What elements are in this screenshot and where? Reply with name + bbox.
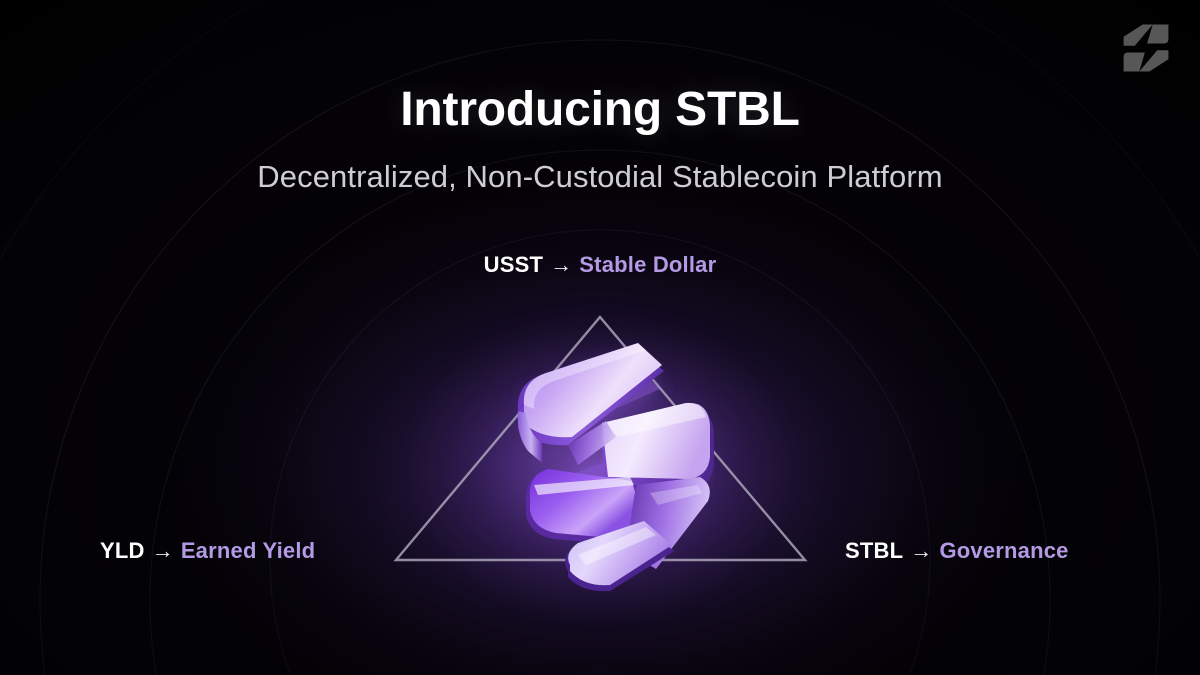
page-subtitle: Decentralized, Non-Custodial Stablecoin … xyxy=(0,159,1200,195)
node-ticker-usst: USST xyxy=(484,252,543,277)
node-description-yld: Earned Yield xyxy=(181,538,315,563)
arrow-icon-usst: → xyxy=(543,252,579,277)
page-title: Introducing STBL xyxy=(0,82,1200,137)
stbl-3d-s-mark-icon xyxy=(450,325,750,605)
stbl-s-logo-icon xyxy=(1118,20,1174,76)
node-ticker-yld: YLD xyxy=(100,538,145,563)
node-description-stbl: Governance xyxy=(939,538,1068,563)
arrow-icon-yld: → xyxy=(145,538,181,563)
node-ticker-stbl: STBL xyxy=(845,538,903,563)
node-description-usst: Stable Dollar xyxy=(579,252,716,277)
node-label-yld: YLD→Earned Yield xyxy=(100,538,315,564)
node-label-stbl: STBL→Governance xyxy=(845,538,1069,564)
node-label-usst: USST→Stable Dollar xyxy=(0,252,1200,278)
arrow-icon-stbl: → xyxy=(903,538,939,563)
slide-canvas: Introducing STBL Decentralized, Non-Cust… xyxy=(0,0,1200,675)
